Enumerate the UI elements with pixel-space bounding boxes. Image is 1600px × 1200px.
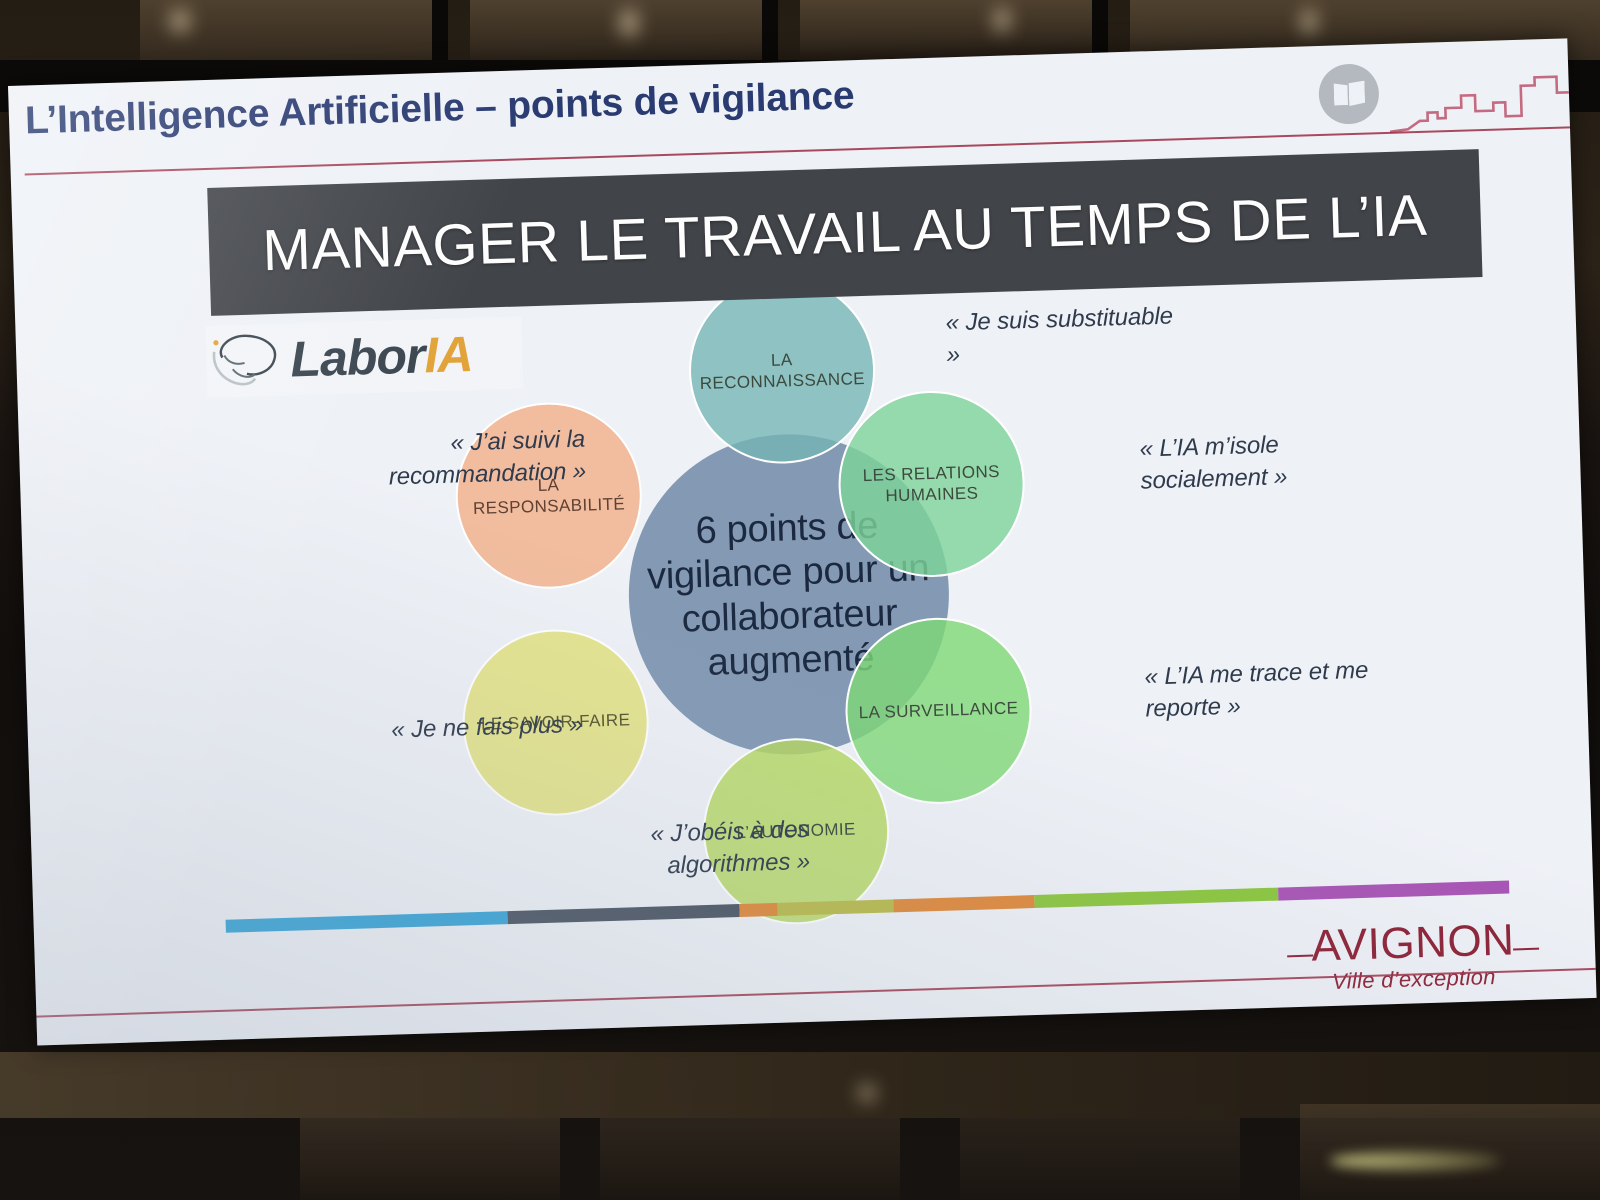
quote-autonomie: « J’obéis à des algorithmes » xyxy=(579,814,811,884)
quote-reconnaissance: « Je suis substituable » xyxy=(945,300,1177,370)
banner-title: MANAGER LE TRAVAIL AU TEMPS DE L’IA xyxy=(261,181,1428,284)
laboria-logo: LaborIA xyxy=(205,316,523,398)
bubble-label-surveillance: LA SURVEILLANCE xyxy=(852,698,1024,724)
laboria-word-dark: Labor xyxy=(290,327,426,387)
bubble-label-relations-humaines: LES RELATIONS HUMAINES xyxy=(840,460,1023,508)
bubble-label-reconnaissance: LA RECONNAISSANCE xyxy=(690,346,873,394)
laboria-word-accent: IA xyxy=(423,326,473,383)
quote-responsabilite: « J’ai suivi la recommandation » xyxy=(335,424,587,495)
avignon-tagline: Ville d’exception xyxy=(1304,963,1525,996)
quote-surveillance: « L’IA me trace et me reporte » xyxy=(1144,654,1396,725)
presentation-slide: L’Intelligence Artificielle – points de … xyxy=(8,38,1597,1045)
brain-outline-icon xyxy=(206,327,294,394)
quote-relations-humaines: « L’IA m’isole socialement » xyxy=(1139,426,1381,497)
bubble-reconnaissance[interactable]: LA RECONNAISSANCE xyxy=(686,275,878,467)
avignon-logo: AVIGNON Ville d’exception xyxy=(1302,918,1524,999)
laboria-wordmark: LaborIA xyxy=(290,329,473,385)
color-bar-segment-orange xyxy=(739,903,778,917)
avignon-city-name: AVIGNON xyxy=(1302,918,1523,969)
